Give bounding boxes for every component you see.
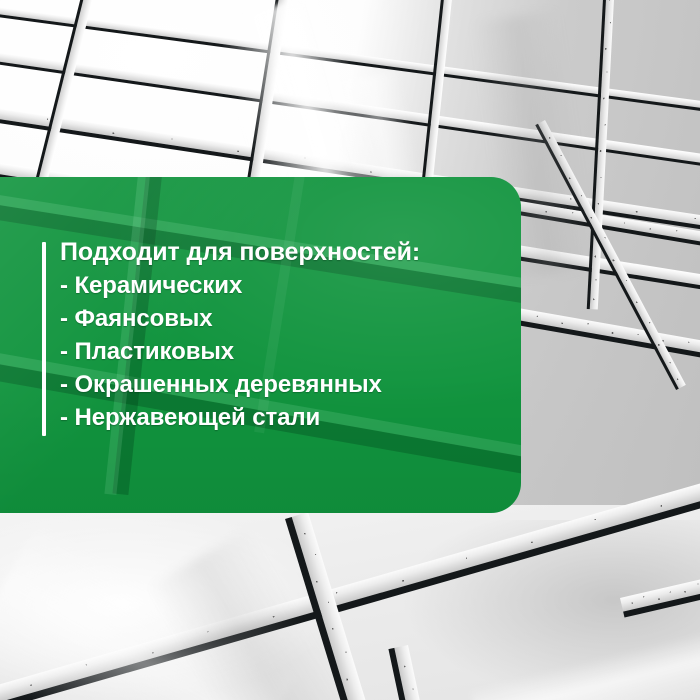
surface-list-item: - Фаянсовых bbox=[60, 302, 500, 335]
panel-text-lines: Подходит для поверхностей: - Керамически… bbox=[60, 236, 500, 434]
surface-list-item: - Окрашенных деревянных bbox=[60, 368, 500, 401]
surface-list-item: - Керамических bbox=[60, 269, 500, 302]
surface-list-item: - Пластиковых bbox=[60, 335, 500, 368]
vertical-accent-rule bbox=[42, 242, 46, 436]
banner-image: Подходит для поверхностей: - Керамически… bbox=[0, 0, 700, 700]
panel-heading: Подходит для поверхностей: bbox=[60, 236, 500, 269]
surface-list-item: - Нержавеющей стали bbox=[60, 401, 500, 434]
